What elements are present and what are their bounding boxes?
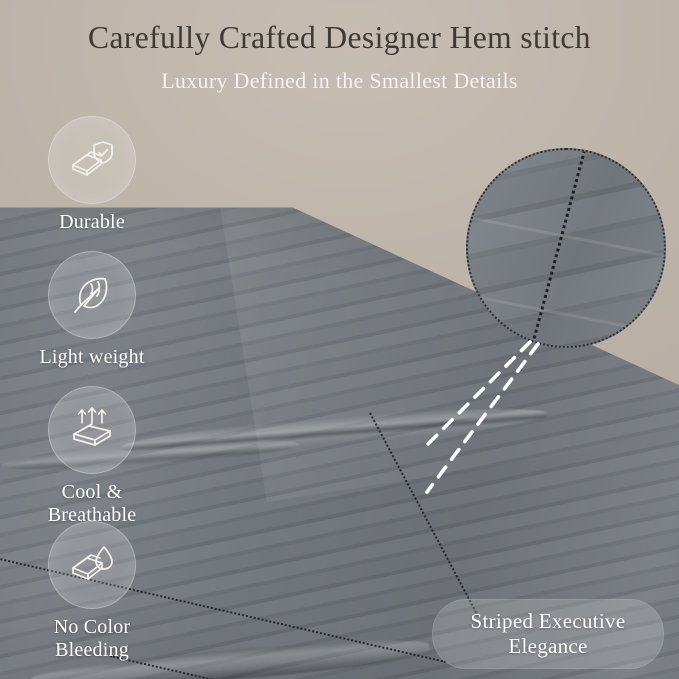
feature-label: No Color Bleeding xyxy=(18,616,166,662)
feature-item-light-weight: Light weight xyxy=(18,251,166,369)
feature-label-line1: Durable xyxy=(59,211,125,233)
feature-label-line1: No Color xyxy=(18,616,166,639)
fabric-water-drop-icon xyxy=(67,542,117,588)
feature-icon-circle xyxy=(48,386,136,474)
feature-icon-circle xyxy=(48,116,136,204)
product-feature-infographic: Carefully Crafted Designer Hem stitch Lu… xyxy=(0,0,679,679)
feature-item-cool-breathable: Cool & Breathable xyxy=(18,386,166,527)
feature-icon-circle xyxy=(48,521,136,609)
feature-item-durable: Durable xyxy=(18,116,166,234)
feature-label: Durable xyxy=(18,211,166,234)
badge-line2: Elegance xyxy=(508,634,587,659)
feature-item-no-color-bleeding: No Color Bleeding xyxy=(18,521,166,662)
feature-label-line2: Bleeding xyxy=(18,639,166,662)
status-badge: Striped Executive Elegance xyxy=(432,599,664,669)
fabric-shield-check-icon xyxy=(67,138,117,182)
feature-label-line1: Light weight xyxy=(39,346,144,368)
feature-label-line1: Cool & xyxy=(18,481,166,504)
hem-stitch-detail-zoom xyxy=(466,148,666,348)
feature-icon-circle xyxy=(48,251,136,339)
feather-icon xyxy=(69,272,115,318)
page-title: Carefully Crafted Designer Hem stitch xyxy=(0,20,679,56)
fabric-breathable-arrows-icon xyxy=(67,406,117,454)
page-subtitle: Luxury Defined in the Smallest Details xyxy=(0,68,679,94)
badge-line1: Striped Executive xyxy=(471,609,626,634)
feature-label: Light weight xyxy=(18,346,166,369)
